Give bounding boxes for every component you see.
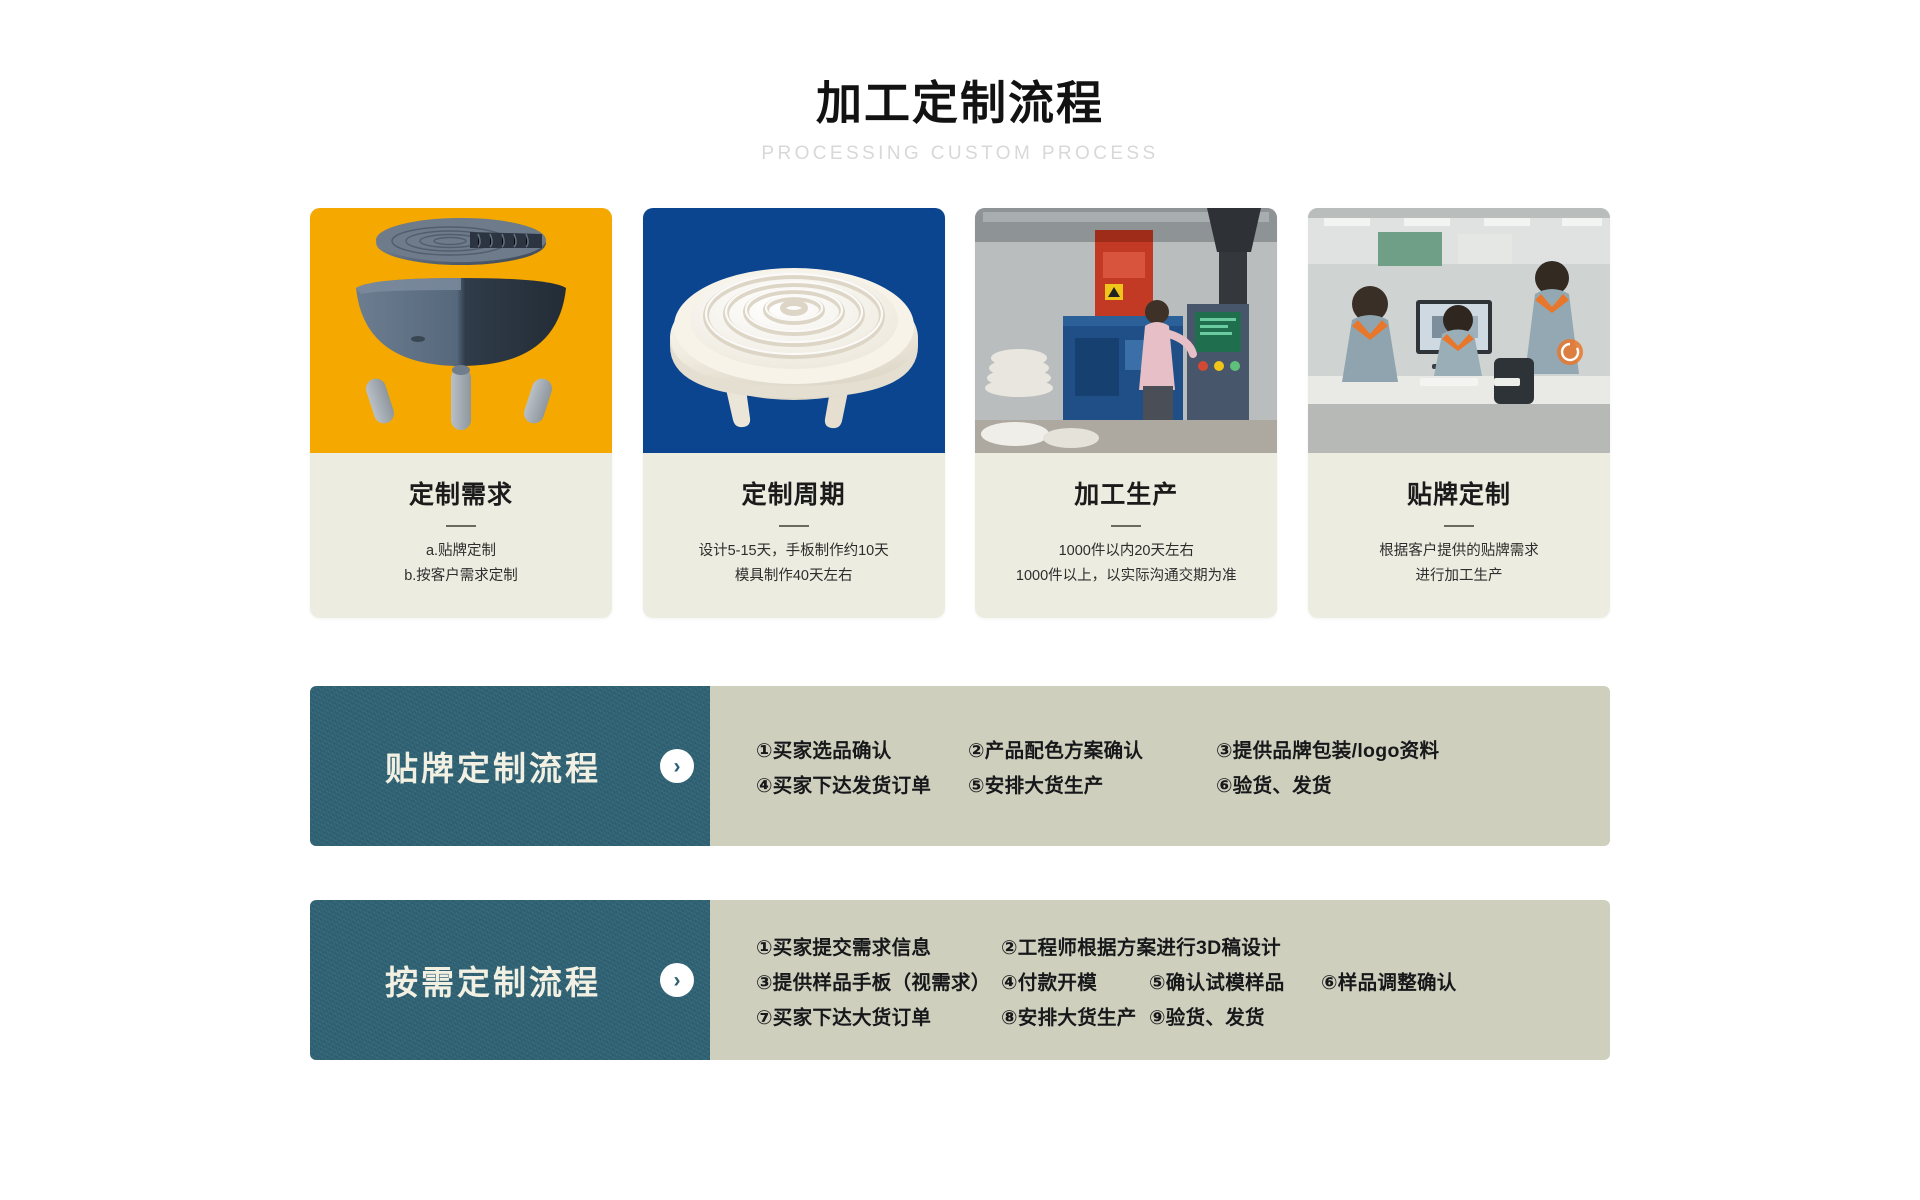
- step-item: ④买家下达发货订单: [756, 769, 968, 798]
- card-2-title: 定制周期: [657, 475, 931, 511]
- card-3-desc-line-1: 1000件以内20天左右: [989, 539, 1263, 564]
- custom-process-label-text: 按需定制流程: [385, 956, 635, 1004]
- card-1-desc-line-1: a.贴牌定制: [324, 539, 598, 564]
- card-4-desc-line-1: 根据客户提供的贴牌需求: [1322, 539, 1596, 564]
- oem-process-label-text: 贴牌定制流程: [385, 742, 635, 790]
- page-root: 加工定制流程 PROCESSING CUSTOM PROCESS: [0, 0, 1920, 1200]
- card-1-title: 定制需求: [324, 475, 598, 511]
- step-row: ⑦买家下达大货订单 ⑧安排大货生产 ⑨验货、发货: [756, 1001, 1610, 1030]
- process-card-1[interactable]: 定制需求 a.贴牌定制 b.按客户需求定制: [310, 208, 612, 619]
- card-1-body: 定制需求 a.贴牌定制 b.按客户需求定制: [310, 453, 612, 619]
- step-item: ②产品配色方案确认: [968, 734, 1216, 763]
- card-4-title: 贴牌定制: [1322, 475, 1596, 511]
- card-image-white-bowl: [643, 208, 945, 453]
- process-card-4[interactable]: 贴牌定制 根据客户提供的贴牌需求 进行加工生产: [1308, 208, 1610, 619]
- oem-process-banner: 贴牌定制流程 › ①买家选品确认 ②产品配色方案确认 ③提供品牌包装/logo资…: [310, 686, 1610, 846]
- step-row: ①买家提交需求信息 ②工程师根据方案进行3D稿设计: [756, 931, 1610, 960]
- custom-process-steps: ①买家提交需求信息 ②工程师根据方案进行3D稿设计 ③提供样品手板（视需求） ④…: [710, 900, 1610, 1060]
- oem-process-label: 贴牌定制流程 ›: [310, 686, 710, 846]
- divider-rule: [779, 525, 809, 527]
- divider-rule: [1111, 525, 1141, 527]
- step-item: ⑤确认试模样品: [1149, 966, 1321, 995]
- page-title: 加工定制流程: [0, 78, 1920, 129]
- card-1-desc-line-2: b.按客户需求定制: [324, 564, 598, 589]
- card-3-desc-line-2: 1000件以上，以实际沟通交期为准: [989, 564, 1263, 589]
- card-2-desc-line-1: 设计5-15天，手板制作约10天: [657, 539, 931, 564]
- step-item: ⑤安排大货生产: [968, 769, 1216, 798]
- step-row: ①买家选品确认 ②产品配色方案确认 ③提供品牌包装/logo资料: [756, 734, 1610, 763]
- step-item: ⑨验货、发货: [1149, 1001, 1265, 1030]
- card-3-body: 加工生产 1000件以内20天左右 1000件以上，以实际沟通交期为准: [975, 453, 1277, 619]
- card-2-desc-line-2: 模具制作40天左右: [657, 564, 931, 589]
- page-subtitle: PROCESSING CUSTOM PROCESS: [0, 143, 1920, 165]
- card-4-desc: 根据客户提供的贴牌需求 进行加工生产: [1322, 539, 1596, 589]
- card-image-product-exploded: [310, 208, 612, 453]
- step-item: ③提供品牌包装/logo资料: [1216, 734, 1439, 763]
- step-item: ①买家提交需求信息: [756, 931, 1001, 960]
- card-3-desc: 1000件以内20天左右 1000件以上，以实际沟通交期为准: [989, 539, 1263, 589]
- chevron-right-icon: ›: [660, 749, 694, 783]
- card-4-body: 贴牌定制 根据客户提供的贴牌需求 进行加工生产: [1308, 453, 1610, 619]
- step-item: ③提供样品手板（视需求）: [756, 966, 1001, 995]
- step-item: ⑥验货、发货: [1216, 769, 1332, 798]
- card-1-desc: a.贴牌定制 b.按客户需求定制: [324, 539, 598, 589]
- step-item: ⑧安排大货生产: [1001, 1001, 1149, 1030]
- step-row: ③提供样品手板（视需求） ④付款开模 ⑤确认试模样品 ⑥样品调整确认: [756, 966, 1610, 995]
- step-row: ④买家下达发货订单 ⑤安排大货生产 ⑥验货、发货: [756, 769, 1610, 798]
- step-item: ①买家选品确认: [756, 734, 968, 763]
- custom-process-label: 按需定制流程 ›: [310, 900, 710, 1060]
- card-3-title: 加工生产: [989, 475, 1263, 511]
- step-item: ⑦买家下达大货订单: [756, 1001, 1001, 1030]
- process-card-list: 定制需求 a.贴牌定制 b.按客户需求定制: [310, 208, 1610, 619]
- step-item: ④付款开模: [1001, 966, 1149, 995]
- card-2-desc: 设计5-15天，手板制作约10天 模具制作40天左右: [657, 539, 931, 589]
- page-header: 加工定制流程 PROCESSING CUSTOM PROCESS: [0, 0, 1920, 165]
- divider-rule: [446, 525, 476, 527]
- step-item: ②工程师根据方案进行3D稿设计: [1001, 931, 1281, 960]
- process-card-3[interactable]: 加工生产 1000件以内20天左右 1000件以上，以实际沟通交期为准: [975, 208, 1277, 619]
- chevron-right-icon: ›: [660, 963, 694, 997]
- step-item: ⑥样品调整确认: [1321, 966, 1457, 995]
- card-4-desc-line-2: 进行加工生产: [1322, 564, 1596, 589]
- oem-process-steps: ①买家选品确认 ②产品配色方案确认 ③提供品牌包装/logo资料 ④买家下达发货…: [710, 686, 1610, 846]
- divider-rule: [1444, 525, 1474, 527]
- card-image-office: [1308, 208, 1610, 453]
- process-card-2[interactable]: 定制周期 设计5-15天，手板制作约10天 模具制作40天左右: [643, 208, 945, 619]
- card-2-body: 定制周期 设计5-15天，手板制作约10天 模具制作40天左右: [643, 453, 945, 619]
- custom-process-banner: 按需定制流程 › ①买家提交需求信息 ②工程师根据方案进行3D稿设计 ③提供样品…: [310, 900, 1610, 1060]
- card-image-factory: [975, 208, 1277, 453]
